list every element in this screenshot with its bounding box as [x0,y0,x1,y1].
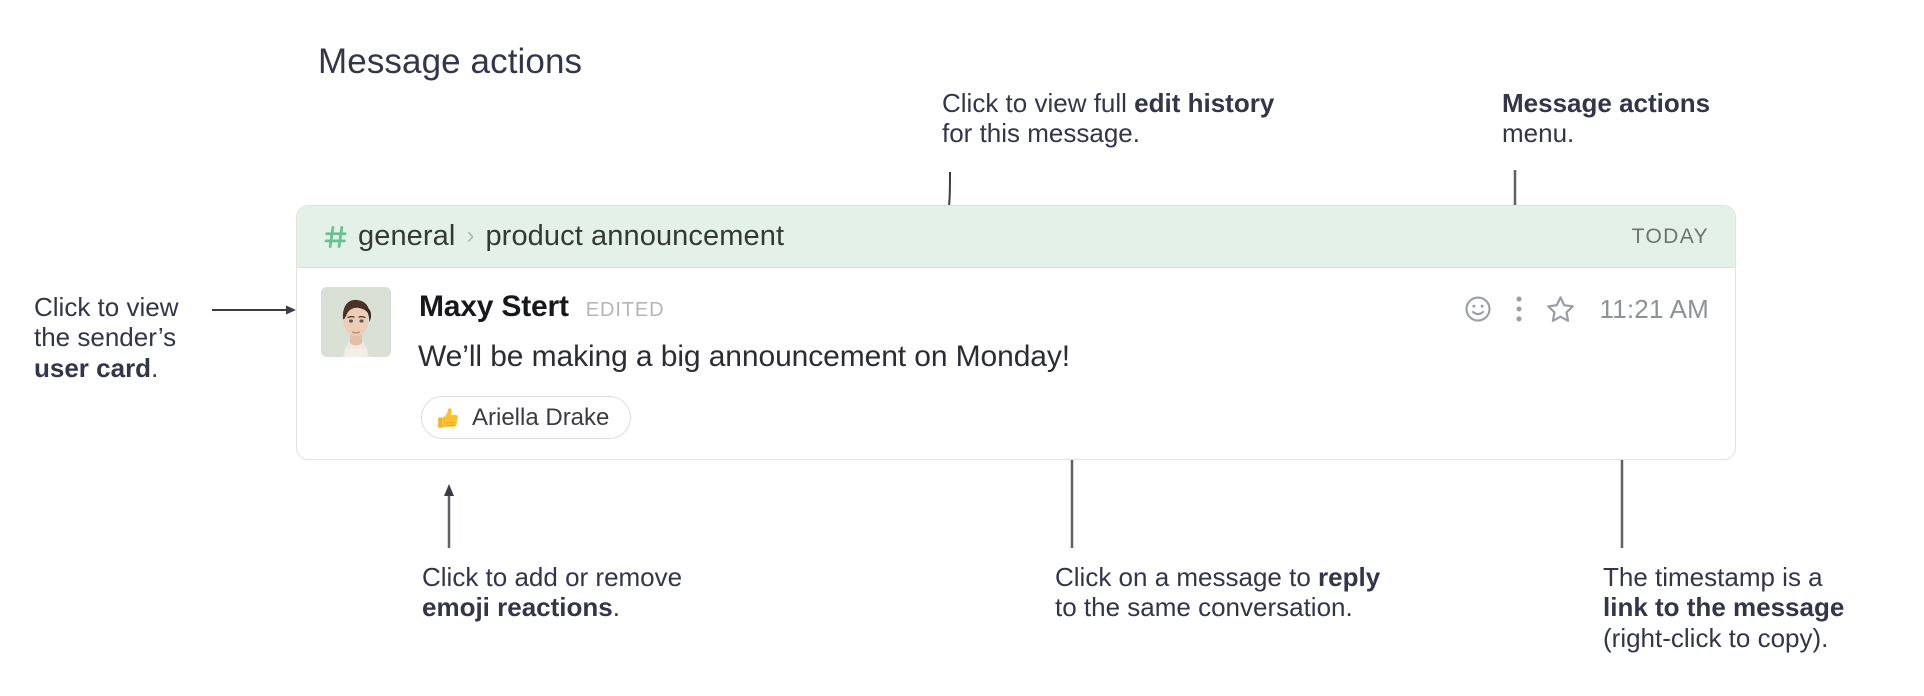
annotation-timestamp-line1: The timestamp is a [1603,562,1823,592]
annotation-reply: Click on a message to reply to the same … [1055,562,1455,623]
message-recipient-bar[interactable]: general › product announcement TODAY [297,206,1735,268]
annotation-user-card: Click to view the sender’s user card. [34,292,264,383]
annotation-emoji-reactions: Click to add or remove emoji reactions. [422,562,782,623]
message-card[interactable]: general › product announcement TODAY [296,205,1736,460]
annotation-edit-history-line1-prefix: Click to view full [942,88,1134,118]
annotation-user-card-line3-suffix: . [151,353,158,383]
annotation-user-card-line3-bold: user card [34,353,151,383]
topic-name[interactable]: product announcement [485,220,784,253]
date-label[interactable]: TODAY [1632,225,1709,249]
thumbs-up-icon [435,405,461,431]
annotation-reply-line1-prefix: Click on a message to [1055,562,1318,592]
annotation-timestamp-line2-bold: link to the message [1603,592,1844,622]
message-actions-menu-icon[interactable] [1509,292,1529,326]
annotation-edit-history: Click to view full edit history for this… [942,88,1362,149]
reaction-pill[interactable]: Ariella Drake [421,396,631,439]
message-text[interactable]: We’ll be making a big announcement on Mo… [418,340,1070,374]
annotation-user-card-line2: the sender’s [34,322,176,352]
annotation-actions-menu-line2: menu. [1502,118,1574,148]
avatar[interactable] [321,287,391,357]
stream-name[interactable]: general [358,220,455,253]
star-icon[interactable] [1543,292,1577,326]
message-row[interactable]: Maxy Stert EDITED We’ll be making a big … [297,268,1735,285]
message-controls[interactable]: 11:21 AM [1447,292,1709,326]
annotation-edit-history-line1-bold: edit history [1134,88,1274,118]
annotation-emoji-line2-suffix: . [613,592,620,622]
annotation-emoji-line1: Click to add or remove [422,562,682,592]
annotation-reply-line1-bold: reply [1318,562,1380,592]
page-title: Message actions [318,42,582,82]
edited-badge[interactable]: EDITED [586,299,665,322]
chevron-right-icon: › [466,224,474,248]
sender-name[interactable]: Maxy Stert [419,290,569,324]
annotation-timestamp: The timestamp is a link to the message (… [1603,562,1923,653]
annotation-actions-menu: Message actions menu. [1502,88,1802,149]
message-timestamp[interactable]: 11:21 AM [1599,294,1709,325]
connector-emoji-reactions [444,484,454,548]
annotation-reply-line2: to the same conversation. [1055,592,1353,622]
emoji-picker-icon[interactable] [1461,292,1495,326]
annotation-edit-history-line2: for this message. [942,118,1140,148]
annotation-timestamp-line3: (right-click to copy). [1603,623,1828,653]
reaction-users[interactable]: Ariella Drake [472,404,609,432]
annotation-emoji-line2-bold: emoji reactions [422,592,613,622]
annotation-actions-menu-line1: Message actions [1502,88,1710,118]
annotation-user-card-line1: Click to view [34,292,178,322]
sender-row: Maxy Stert EDITED [419,290,664,324]
hash-icon [323,224,349,250]
